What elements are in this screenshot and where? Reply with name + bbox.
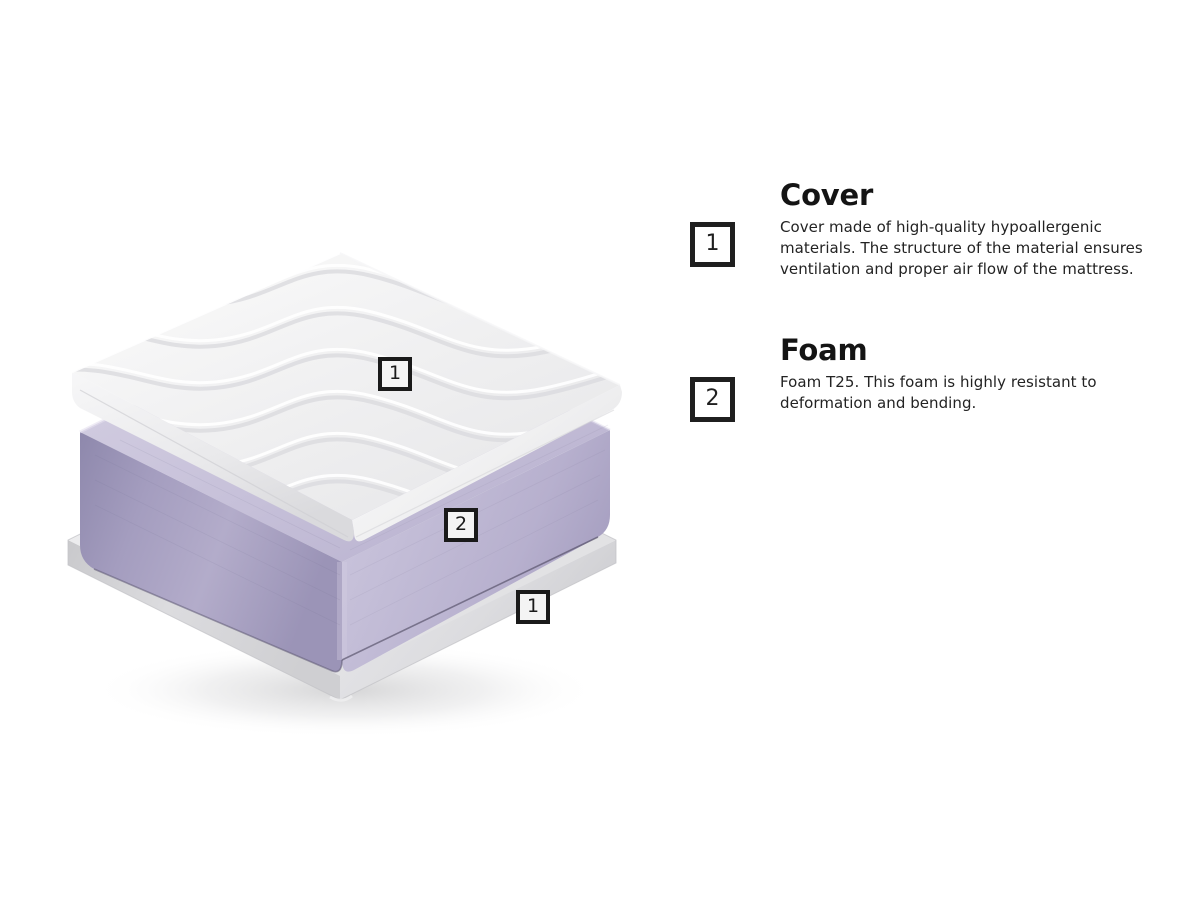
marker-base-label: 1 — [527, 597, 539, 616]
marker-base[interactable]: 1 — [516, 590, 550, 624]
legend-text-cover: Cover Cover made of high-quality hypoall… — [780, 178, 1150, 280]
legend-number-1: 1 — [706, 233, 720, 255]
legend-description-foam: Foam T25. This foam is highly resistant … — [780, 372, 1150, 414]
legend-number-box-1: 1 — [690, 222, 735, 267]
legend-number-2: 2 — [706, 388, 720, 410]
legend-title-foam: Foam — [780, 333, 1150, 367]
legend-title-cover: Cover — [780, 178, 1150, 212]
legend-description-cover: Cover made of high-quality hypoallergeni… — [780, 217, 1150, 280]
legend-panel: 1 Cover Cover made of high-quality hypoa… — [688, 0, 1158, 899]
marker-foam-label: 2 — [455, 515, 467, 534]
mattress-illustration: 1 2 1 — [0, 0, 680, 899]
marker-foam[interactable]: 2 — [444, 508, 478, 542]
legend-number-box-2: 2 — [690, 377, 735, 422]
marker-cover-label: 1 — [389, 364, 401, 383]
mattress-svg — [0, 0, 680, 899]
marker-cover[interactable]: 1 — [378, 357, 412, 391]
legend-text-foam: Foam Foam T25. This foam is highly resis… — [780, 333, 1150, 414]
